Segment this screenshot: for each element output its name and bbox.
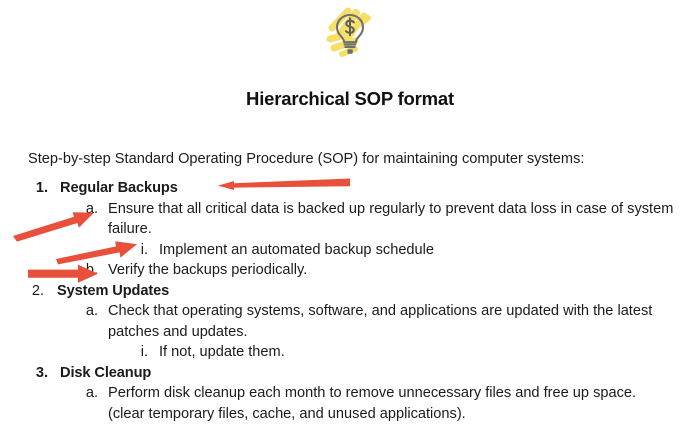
list-item-text: Perform disk cleanup each month to remov… [108,383,674,424]
list-marker: b. [78,260,98,281]
list-item-text: Ensure that all critical data is backed … [108,199,674,240]
list-marker: i. [130,342,148,363]
list-item-text: System Updates [57,281,169,302]
list-item: a. Perform disk cleanup each month to re… [0,383,700,424]
list-item: b. Verify the backups periodically. [0,260,700,281]
list-item-text: Verify the backups periodically. [108,260,307,281]
list-item: a. Ensure that all critical data is back… [0,199,700,240]
document-canvas: Hierarchical SOP format Step-by-step Sta… [0,0,700,442]
list-item: 1. Regular Backups [0,178,700,199]
list-item: a. Check that operating systems, softwar… [0,301,700,342]
list-item-text: Check that operating systems, software, … [108,301,674,342]
list-marker: 1. [22,178,48,199]
intro-paragraph: Step-by-step Standard Operating Procedur… [28,149,584,169]
list-item-text: Disk Cleanup [60,363,151,384]
lightbulb-dollar-icon [322,6,378,58]
page-title: Hierarchical SOP format [0,88,700,110]
list-marker: a. [78,199,98,220]
list-item-text: Implement an automated backup schedule [159,240,434,261]
list-item: 2. System Updates [0,281,700,302]
list-item-text: Regular Backups [60,178,178,199]
list-marker: a. [78,383,98,404]
list-item: i. If not, update them. [0,342,700,363]
list-item: i. Implement an automated backup schedul… [0,240,700,261]
sop-outline-list: 1. Regular Backups a. Ensure that all cr… [0,178,700,424]
list-marker: 3. [22,363,48,384]
list-marker: i. [130,240,148,261]
list-item-text: If not, update them. [159,342,285,363]
bulb-base [347,49,352,54]
list-item: 3. Disk Cleanup [0,363,700,384]
list-marker: 2. [18,281,44,302]
list-marker: a. [78,301,98,322]
document-icon-container [0,6,700,58]
